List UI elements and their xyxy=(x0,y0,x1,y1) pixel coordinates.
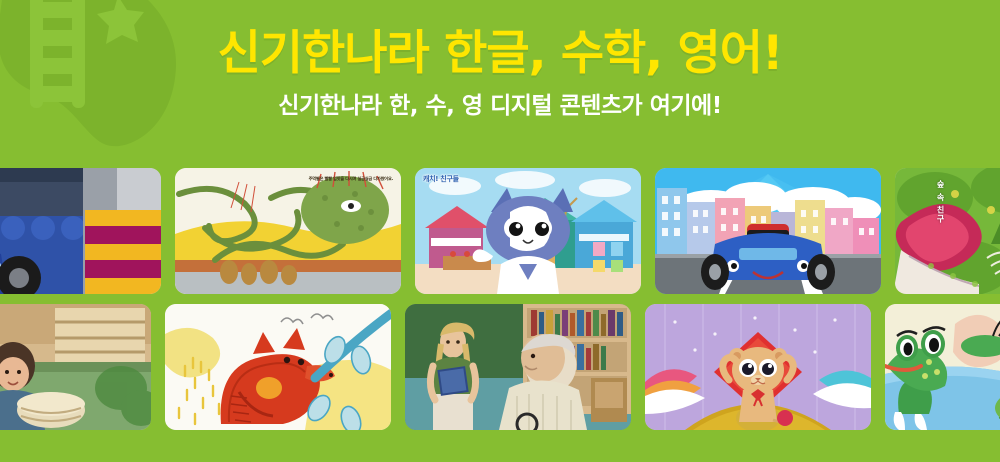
card-police-car-art xyxy=(655,168,881,294)
page-subtitle: 신기한나라 한, 수, 영 디지털 콘텐츠가 여기에! xyxy=(0,93,1000,121)
card-library-scene[interactable] xyxy=(405,304,631,430)
card-lion-cub[interactable] xyxy=(645,304,871,430)
promo-banner: 신기한나라 한글, 수학, 영어! 신기한나라 한, 수, 영 디지털 콘텐츠가… xyxy=(0,0,1000,462)
card-catch-friends-art xyxy=(415,168,641,294)
card-catch-friends[interactable]: 캐치! 친구들 xyxy=(415,168,641,294)
card-collage-squirrel-art xyxy=(895,168,1000,294)
card-blue-truck[interactable] xyxy=(0,168,161,294)
card-collage-squirrel-caption: 숲 속 친구 xyxy=(935,180,946,224)
card-green-vine[interactable]: 주먹별은 빨빨 입맛을 다시며 실금실금 다가왔어요. xyxy=(175,168,401,294)
thumbnail-row-1: 주먹별은 빨빨 입맛을 다시며 실금실금 다가왔어요. xyxy=(0,168,1000,294)
card-red-boar[interactable] xyxy=(165,304,391,430)
card-lion-cub-art xyxy=(645,304,871,430)
card-green-vine-caption: 주먹별은 빨빨 입맛을 다시며 실금실금 다가왔어요. xyxy=(309,176,393,182)
card-library-scene-art xyxy=(405,304,631,430)
card-blue-truck-art xyxy=(0,168,161,294)
card-catch-friends-logo: 캐치! 친구들 xyxy=(423,175,459,183)
card-frog-pond[interactable] xyxy=(885,304,1000,430)
card-woman-basket-art xyxy=(0,304,151,430)
card-police-car[interactable] xyxy=(655,168,881,294)
card-woman-basket[interactable] xyxy=(0,304,151,430)
page-title: 신기한나라 한글, 수학, 영어! xyxy=(0,26,1000,81)
thumbnail-row-2 xyxy=(0,304,1000,430)
banner-header: 신기한나라 한글, 수학, 영어! 신기한나라 한, 수, 영 디지털 콘텐츠가… xyxy=(0,26,1000,121)
card-collage-squirrel[interactable]: 숲 속 친구 xyxy=(895,168,1000,294)
card-frog-pond-art xyxy=(885,304,1000,430)
card-green-vine-art xyxy=(175,168,401,294)
card-red-boar-art xyxy=(165,304,391,430)
